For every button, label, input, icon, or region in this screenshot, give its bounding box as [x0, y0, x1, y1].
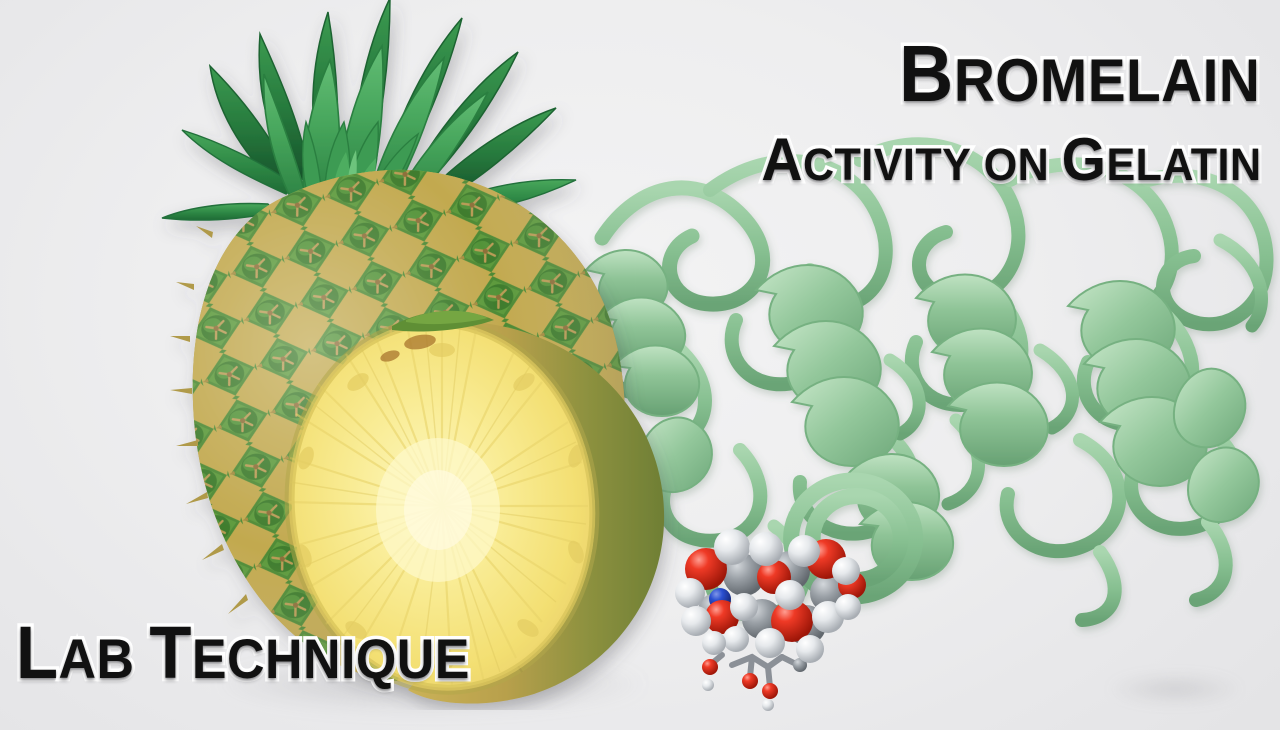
subtitle-on-word: ON	[984, 139, 1050, 190]
alpha-helix-cluster-center	[756, 265, 899, 466]
floor-shadow-secondary	[1080, 668, 1270, 710]
subtitle-activity-lead: A	[762, 126, 804, 193]
title-bromelain-rest: ROMELAIN	[953, 46, 1260, 114]
subtitle-space-2	[1050, 139, 1062, 190]
badge-lab-lead: L	[16, 611, 59, 694]
pineapple-with-cut-slice	[90, 0, 730, 710]
title-bromelain-lead: B	[899, 29, 954, 118]
title-line-bromelain: BROMELAIN	[899, 34, 1260, 114]
badge-technique-rest: ECHNIQUE	[192, 627, 470, 690]
title-line-subtitle: ACTIVITY ON GELATIN	[762, 130, 1262, 190]
badge-lab-technique: LAB TECHNIQUE	[16, 616, 470, 690]
subtitle-gelatin-rest: ELATIN	[1107, 139, 1262, 190]
badge-space	[134, 627, 149, 690]
badge-technique-lead: T	[149, 611, 192, 694]
badge-lab-rest: AB	[59, 627, 135, 690]
subtitle-activity-rest: CTIVITY	[803, 139, 971, 190]
alpha-helix-cluster-mid	[916, 275, 1048, 467]
thumbnail-canvas: BROMELAIN ACTIVITY ON GELATIN LAB TECHNI…	[0, 0, 1280, 730]
subtitle-on	[972, 139, 984, 190]
subtitle-gelatin-lead: G	[1062, 126, 1107, 193]
